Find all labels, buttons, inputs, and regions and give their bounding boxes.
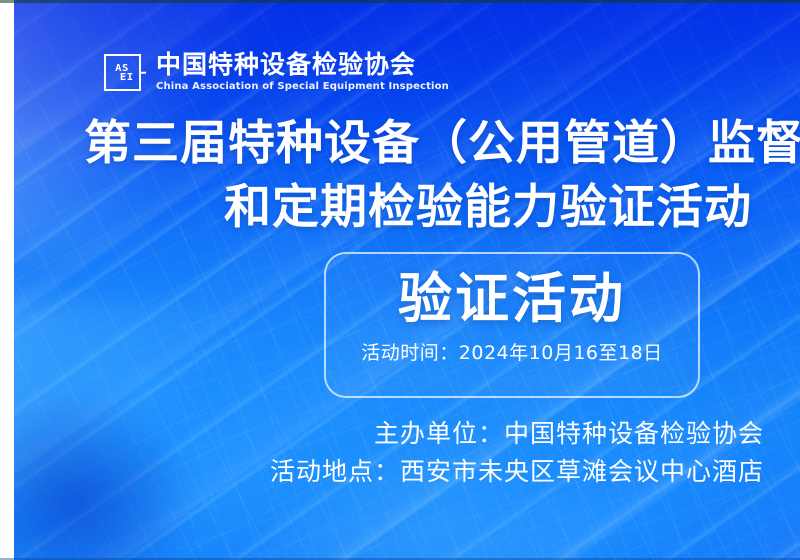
association-name-en: China Association of Special Equipment I… (156, 80, 449, 93)
conference-banner: AS EI 中国特种设备检验协会 China Association of Sp… (0, 0, 800, 560)
event-title-line-2: 和定期检验能力验证活动 (0, 176, 800, 240)
asei-seal-icon: AS EI (104, 54, 141, 91)
event-date-label: 活动时间：2024年10月16至18日 (361, 338, 662, 365)
highlight-card: 验证活动 活动时间：2024年10月16至18日 (324, 252, 700, 398)
event-title: 第三届特种设备（公用管道）监督 和定期检验能力验证活动 (0, 112, 800, 240)
highlight-headline: 验证活动 (398, 266, 626, 332)
event-title-line-1: 第三届特种设备（公用管道）监督 (0, 112, 800, 176)
page-edge-top (0, 0, 800, 3)
banner-content: AS EI 中国特种设备检验协会 China Association of Sp… (0, 0, 800, 560)
association-name-cn: 中国特种设备检验协会 (156, 52, 449, 78)
association-name-block: 中国特种设备检验协会 China Association of Special … (150, 52, 449, 93)
page-margin-left (0, 0, 14, 560)
logo-mark-line-2: EI (111, 73, 134, 82)
association-logo-lockup: AS EI 中国特种设备检验协会 China Association of Sp… (104, 52, 449, 93)
venue-line: 活动地点：西安市未央区草滩会议中心酒店 (0, 453, 764, 491)
organizer-line: 主办单位：中国特种设备检验协会 (0, 415, 764, 453)
event-details: 主办单位：中国特种设备检验协会 活动地点：西安市未央区草滩会议中心酒店 (0, 415, 800, 491)
